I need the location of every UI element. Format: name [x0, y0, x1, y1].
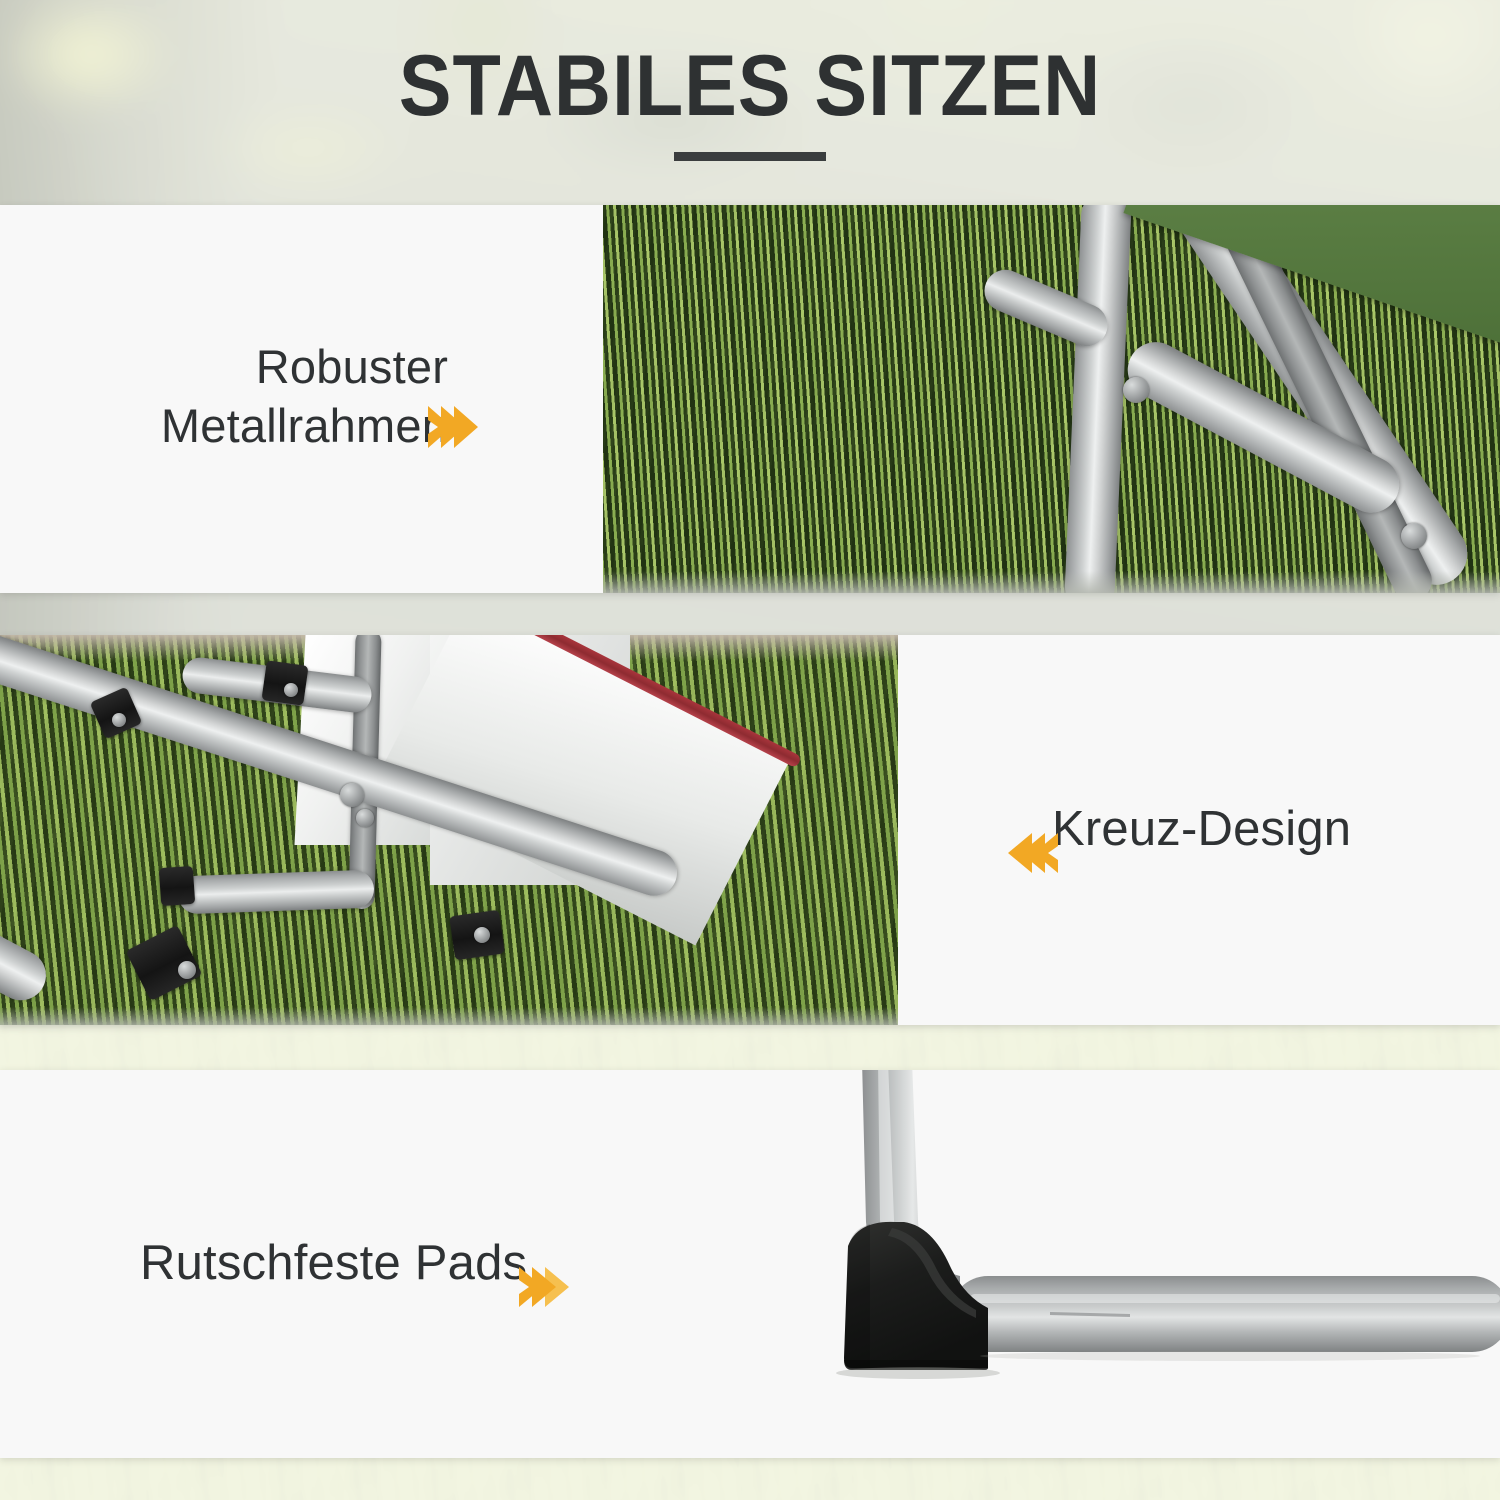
- infographic-page: STABILES SITZEN RobusterMetallrahmen: [0, 0, 1500, 1500]
- photo-bottom-fade: [603, 571, 1500, 593]
- photo-bottom-fade: [0, 1007, 898, 1025]
- feature-label-text-1: RobusterMetallrahmen: [161, 337, 448, 455]
- header: STABILES SITZEN: [0, 0, 1500, 205]
- rivet-right: [474, 927, 490, 943]
- feature-row-metal-frame: RobusterMetallrahmen: [0, 205, 1500, 593]
- feature-text-cell-1: RobusterMetallrahmen: [0, 205, 603, 593]
- joint-cap-top: [261, 660, 308, 705]
- feature-label-2: Kreuz-Design: [1028, 799, 1351, 861]
- rivet-top: [284, 683, 298, 697]
- pad-photo-stage: [800, 1070, 1500, 1458]
- feature-label-3: Rutschfeste Pads: [140, 1233, 543, 1295]
- feature-photo-non-slip-pad: [800, 1070, 1500, 1458]
- feature-photo-metal-frame: [603, 205, 1500, 593]
- feature-text-cell-3: Rutschfeste Pads: [0, 1070, 800, 1458]
- feature-label-line2: Metallrahmen: [161, 399, 448, 452]
- feature-label-text-3: Rutschfeste Pads: [140, 1233, 527, 1295]
- feature-label-line1: Robuster: [256, 340, 448, 393]
- rivet-lower: [1401, 523, 1427, 549]
- page-title: STABILES SITZEN: [60, 43, 1440, 129]
- title-underline-rule: [674, 152, 826, 161]
- cross-brace-mid-bar: [177, 870, 374, 915]
- feature-label-1: RobusterMetallrahmen: [161, 337, 452, 455]
- rivet-cross-center: [340, 783, 364, 807]
- feature-row-cross-design: Kreuz-Design: [0, 635, 1500, 1025]
- feature-label-text-2: Kreuz-Design: [1052, 799, 1351, 861]
- rivet-leg: [356, 809, 374, 827]
- feature-row-non-slip-pads: Rutschfeste Pads: [0, 1070, 1500, 1458]
- feature-text-cell-2: Kreuz-Design: [898, 635, 1500, 1025]
- joint-cap-mid: [159, 866, 196, 906]
- feature-photo-cross-design: [0, 635, 898, 1025]
- rivet-upper-left: [112, 713, 126, 727]
- rivet-pivot: [1123, 377, 1149, 403]
- rivet-lower-left: [178, 961, 196, 979]
- non-slip-pad-illustration: [800, 1070, 1500, 1458]
